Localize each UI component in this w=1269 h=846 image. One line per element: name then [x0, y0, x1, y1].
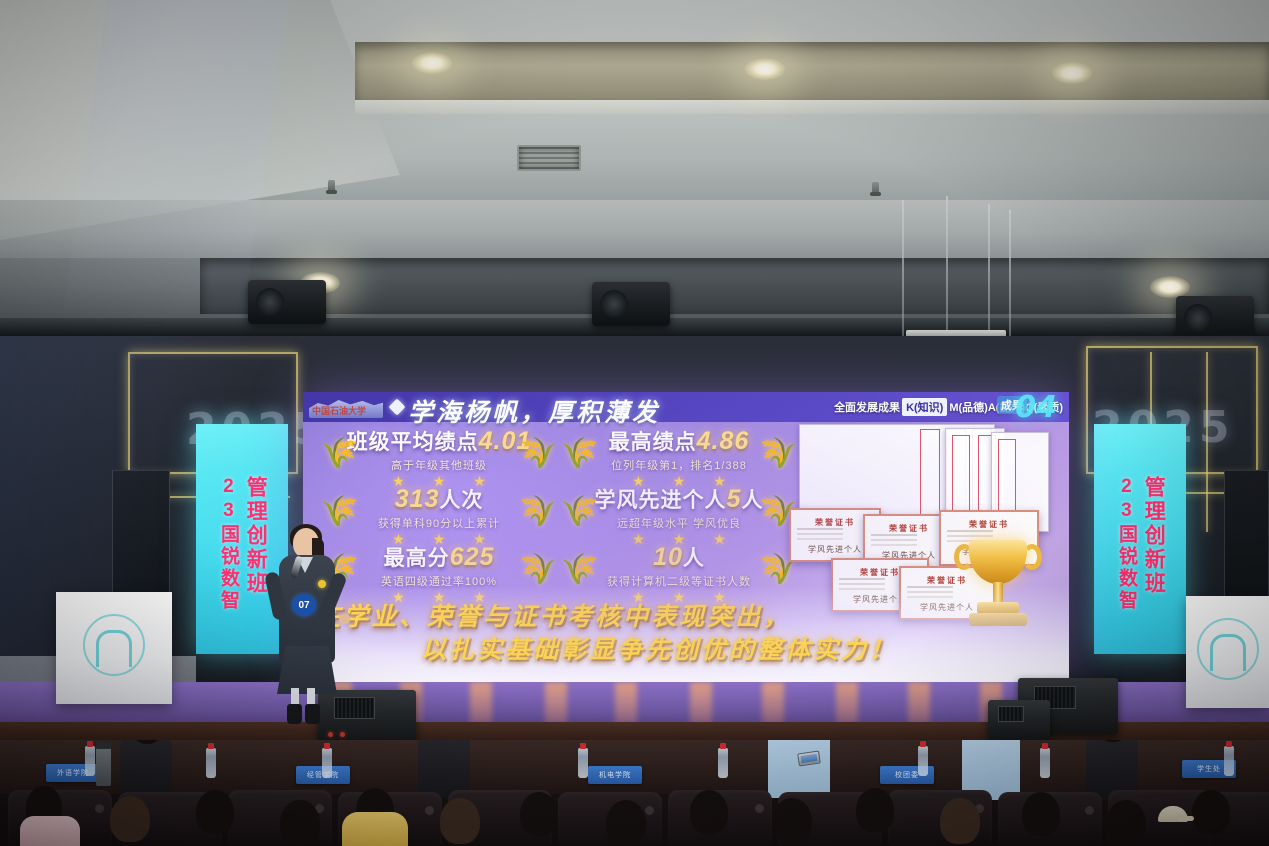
hanging-speaker-right: [1176, 296, 1254, 340]
audience-head: [280, 800, 320, 846]
stat-card: 🌾 🌾 最高绩点4.86 位列年级第1，排名1/388 ★★★: [559, 428, 799, 486]
certificate-title: 荣誉证书: [941, 519, 1037, 530]
presenter-lapel-pin: [318, 580, 326, 588]
slogan-line-1: 在学业、荣誉与证书考核中表现突出，: [311, 600, 1061, 633]
slide-header-bar: 中国石油大学 学海杨帆，厚积薄发 全面发展成果 K(知识) M(品德)A(能力)…: [303, 392, 1069, 422]
audience-head: [606, 800, 646, 846]
stats-row: 🌾 🌾 313人次 获得单科90分以上累计 ★★★ 🌾 🌾 学风先进个人5人 远…: [319, 486, 799, 544]
audience-head: [856, 788, 894, 832]
water-bottle: [1040, 748, 1050, 778]
water-bottle: [1224, 746, 1234, 776]
water-bottle: [578, 748, 588, 778]
rigging-wire: [988, 204, 990, 340]
thermos-cup: [96, 748, 111, 786]
university-emblem-icon: [83, 614, 145, 676]
ceiling-downlight: [1150, 276, 1190, 298]
slide-page-number: 04: [1015, 392, 1057, 425]
side-banner-right-col2: 管理创新班: [1142, 476, 1164, 596]
speaker-grill: [998, 706, 1024, 723]
audience-head: [1022, 792, 1060, 836]
stat-number: 5: [727, 485, 742, 513]
presenter-hand-right: [339, 614, 350, 624]
audience-head: [110, 796, 150, 842]
podium-left: [56, 592, 172, 704]
ceiling-soffit-lip: [355, 100, 1269, 114]
audience-person-pink: [20, 816, 80, 846]
stage-light-band: [470, 682, 492, 724]
certificate-lines: [797, 528, 843, 530]
ceiling-downlight: [1052, 62, 1092, 84]
university-emblem-icon: [1197, 618, 1259, 680]
stage-light-band: [836, 682, 858, 724]
stage-light-band: [908, 682, 930, 724]
audience-person-yellow-coat: [342, 812, 408, 846]
water-bottle: [718, 748, 728, 778]
side-banner-left-col1: 23国锐数智: [218, 476, 238, 612]
kmaq-label: 全面发展成果: [834, 399, 900, 415]
stat-sub: 远超年级水平 学风优良: [559, 515, 799, 531]
stat-label: 最高绩点: [609, 431, 697, 454]
stat-unit: 人次: [439, 489, 483, 512]
stat-label: 最高分: [384, 547, 450, 570]
audience-head: [772, 798, 812, 844]
stage-light-band: [615, 682, 637, 724]
audience-head: [196, 790, 234, 834]
sprinkler-head: [328, 180, 335, 192]
ceiling-soffit: [355, 42, 1269, 102]
stat-sub: 获得单科90分以上累计: [319, 515, 559, 531]
achievement-stats-grid: 🌾 🌾 班级平均绩点4.01 高于年级其他班级 ★★★ 🌾 🌾 最高绩点4.86…: [319, 428, 799, 602]
side-banner-right: 23国锐数智 管理创新班: [1094, 424, 1186, 654]
speaker-indicators: [328, 732, 345, 737]
ceiling-downlight: [745, 58, 785, 80]
water-bottle: [322, 748, 332, 778]
audience-head: [1192, 790, 1230, 834]
podium-right: [1186, 596, 1269, 708]
rigging-wire: [1009, 210, 1011, 340]
led-presentation-screen: 中国石油大学 学海杨帆，厚积薄发 全面发展成果 K(知识) M(品德)A(能力)…: [303, 392, 1069, 682]
trophy-cup: [969, 540, 1027, 584]
stat-number: 10: [653, 543, 683, 571]
stat-number: 313: [395, 485, 440, 513]
stage-light-band: [690, 682, 712, 724]
kmaq-chip-knowledge: K(知识): [902, 398, 947, 416]
stat-sub: 高于年级其他班级: [319, 457, 559, 473]
stat-number: 625: [450, 543, 495, 571]
stat-label: 班级平均绩点: [347, 431, 479, 454]
ceiling-downlight: [412, 52, 452, 74]
audience-head: [690, 790, 728, 834]
hanging-speaker-center: [592, 282, 670, 326]
presenter-boot-left: [287, 704, 302, 724]
slide-slogan: 在学业、荣誉与证书考核中表现突出， 以扎实基础彰显争先创优的整体实力！: [311, 600, 1061, 666]
stat-card: 🌾 🌾 班级平均绩点4.01 高于年级其他班级 ★★★: [319, 428, 559, 486]
certificate-lines: [839, 578, 885, 580]
stage-monitor-speaker-far-right: [988, 700, 1050, 740]
audience-area: 外语学院 经管学院 机电学院 校团委 学生处: [0, 740, 1269, 846]
school-logo-label: 中国石油大学: [312, 404, 366, 417]
audience-head: [520, 792, 558, 836]
diamond-bullet-icon: [389, 399, 406, 416]
stat-number: 4.86: [697, 427, 750, 455]
stat-unit: 人: [683, 547, 705, 570]
stats-row: 🌾 🌾 班级平均绩点4.01 高于年级其他班级 ★★★ 🌾 🌾 最高绩点4.86…: [319, 428, 799, 486]
ceiling-recess: [200, 258, 1269, 314]
stat-card: 🌾 🌾 学风先进个人5人 远超年级水平 学风优良 ★★★: [559, 486, 799, 544]
presenter-number-badge: 07: [292, 594, 316, 616]
audience-person: [768, 740, 830, 798]
score-highlight-box: [920, 429, 940, 527]
audience-head: [940, 798, 980, 844]
stage-light-band: [545, 682, 567, 724]
stat-sub: 位列年级第1，排名1/388: [559, 457, 799, 473]
presenter-boot-right: [305, 704, 320, 724]
stat-label: 学风先进个人: [595, 489, 727, 512]
water-bottle: [918, 746, 928, 776]
slogan-line-2: 以扎实基础彰显争先创优的整体实力！: [311, 633, 1061, 666]
slide-title: 学海杨帆，厚积薄发: [408, 393, 660, 429]
audience-head: [1106, 800, 1146, 846]
air-vent: [517, 145, 581, 171]
stage-light-band: [762, 682, 784, 724]
side-banner-right-col1: 23国锐数智: [1116, 476, 1136, 612]
presenter-student: 07: [263, 528, 349, 724]
table-name-card: 机电学院: [588, 766, 642, 784]
certificate-lines: [871, 534, 917, 536]
water-bottle: [85, 746, 95, 776]
presenter-skirt: [277, 646, 337, 694]
hanging-speaker-left: [248, 280, 326, 324]
water-bottle: [206, 748, 216, 778]
sprinkler-head: [872, 182, 879, 194]
rigging-wire: [946, 196, 948, 340]
ceiling-band: [0, 200, 1269, 258]
audience-head: [440, 798, 480, 844]
stat-card: 🌾 🌾 313人次 获得单科90分以上累计 ★★★: [319, 486, 559, 544]
rigging-wire: [902, 200, 904, 340]
auditorium-scene: 2025 2025 23国锐数智 管理创新班 23国锐数智 管理创新班 中国石油…: [0, 0, 1269, 846]
